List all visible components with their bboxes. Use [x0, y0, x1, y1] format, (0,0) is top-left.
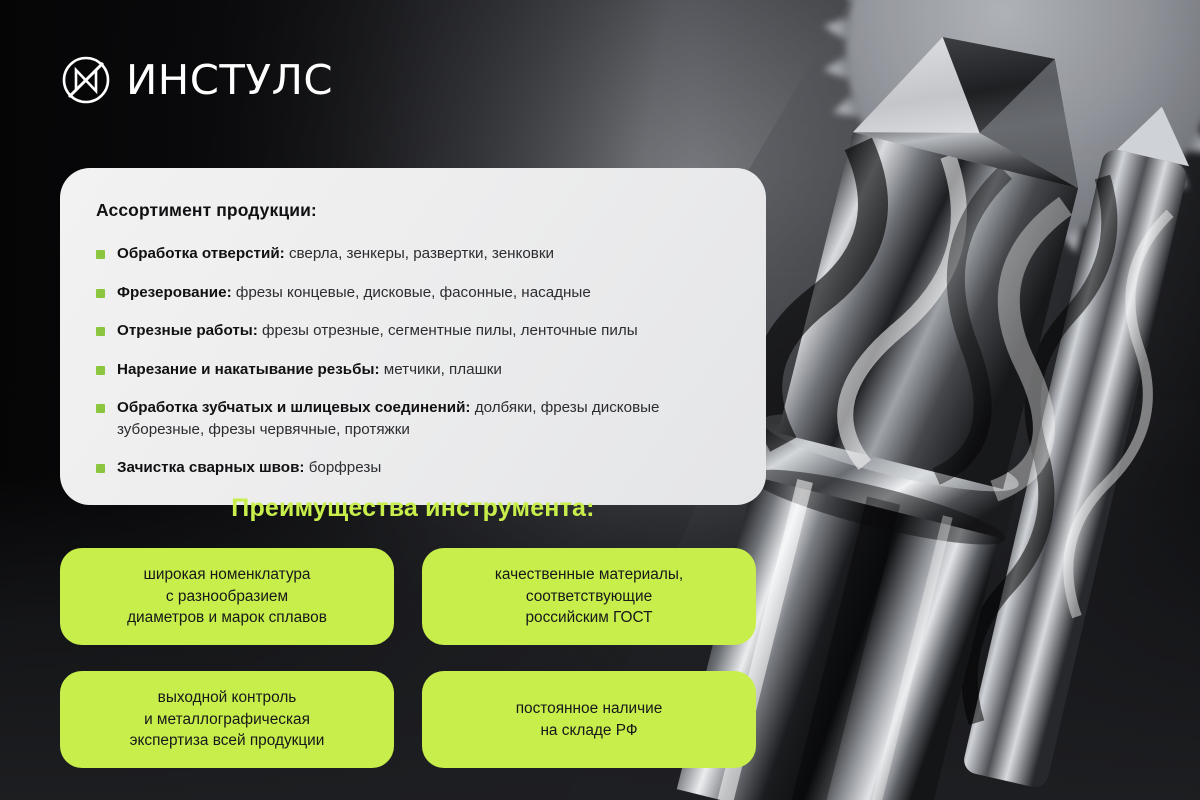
bullet-square-icon — [96, 327, 105, 336]
advantage-line: российским ГОСТ — [495, 607, 683, 629]
bullet-square-icon — [96, 366, 105, 375]
advantage-card[interactable]: качественные материалы, соответствующие … — [422, 548, 756, 645]
list-item-lead: Отрезные работы: — [117, 322, 258, 339]
advantage-card[interactable]: выходной контроль и металлографическая э… — [60, 671, 394, 768]
advantage-line: и металлографическая — [130, 709, 325, 731]
list-item: Обработка зубчатых и шлицевых соединений… — [96, 397, 736, 440]
list-item: Фрезерование: фрезы концевые, дисковые, … — [96, 282, 736, 304]
list-item: Зачистка сварных швов: борфрезы — [96, 457, 736, 479]
brand-name: ИНСТУЛС — [126, 60, 333, 101]
list-item-rest: фрезы концевые, дисковые, фасонные, наса… — [232, 284, 591, 301]
list-item: Обработка отверстий: сверла, зенкеры, ра… — [96, 243, 736, 265]
advantage-line: с разнообразием — [127, 586, 327, 608]
advantage-line: соответствующие — [495, 586, 683, 608]
advantage-card[interactable]: широкая номенклатура с разнообразием диа… — [60, 548, 394, 645]
advantage-line: экспертиза всей продукции — [130, 730, 325, 752]
advantage-card[interactable]: постоянное наличие на складе РФ — [422, 671, 756, 768]
advantage-line: широкая номенклатура — [127, 564, 327, 586]
list-item-lead: Зачистка сварных швов: — [117, 459, 304, 476]
bullet-square-icon — [96, 404, 105, 413]
list-item-rest: метчики, плашки — [380, 361, 502, 378]
list-item: Отрезные работы: фрезы отрезные, сегмент… — [96, 320, 736, 342]
advantage-line: постоянное наличие — [516, 698, 663, 720]
list-item-lead: Нарезание и накатывание резьбы: — [117, 361, 380, 378]
advantage-line: выходной контроль — [130, 687, 325, 709]
brand-logo[interactable]: ИНСТУЛС — [58, 52, 331, 108]
advantage-line: качественные материалы, — [495, 564, 683, 586]
advantage-line: диаметров и марок сплавов — [127, 607, 327, 629]
assortment-list: Обработка отверстий: сверла, зенкеры, ра… — [96, 243, 736, 479]
assortment-title: Ассортимент продукции: — [96, 200, 736, 221]
list-item-lead: Обработка зубчатых и шлицевых соединений… — [117, 399, 471, 416]
instools-circle-monogram-icon — [58, 52, 114, 108]
advantages-heading: Преимущества инструмента: — [60, 494, 766, 523]
list-item-rest: фрезы отрезные, сегментные пилы, ленточн… — [258, 322, 638, 339]
list-item-rest: сверла, зенкеры, развертки, зенковки — [285, 245, 554, 262]
list-item-lead: Обработка отверстий: — [117, 245, 285, 262]
bullet-square-icon — [96, 250, 105, 259]
list-item-rest: борфрезы — [304, 459, 381, 476]
advantages-grid: широкая номенклатура с разнообразием диа… — [60, 548, 770, 768]
banner-root: ИНСТУЛС Ассортимент продукции: Обработка… — [0, 0, 1200, 800]
list-item-lead: Фрезерование: — [117, 284, 232, 301]
advantage-line: на складе РФ — [516, 720, 663, 742]
list-item: Нарезание и накатывание резьбы: метчики,… — [96, 359, 736, 381]
assortment-card: Ассортимент продукции: Обработка отверст… — [60, 168, 766, 505]
bullet-square-icon — [96, 464, 105, 473]
bullet-square-icon — [96, 289, 105, 298]
